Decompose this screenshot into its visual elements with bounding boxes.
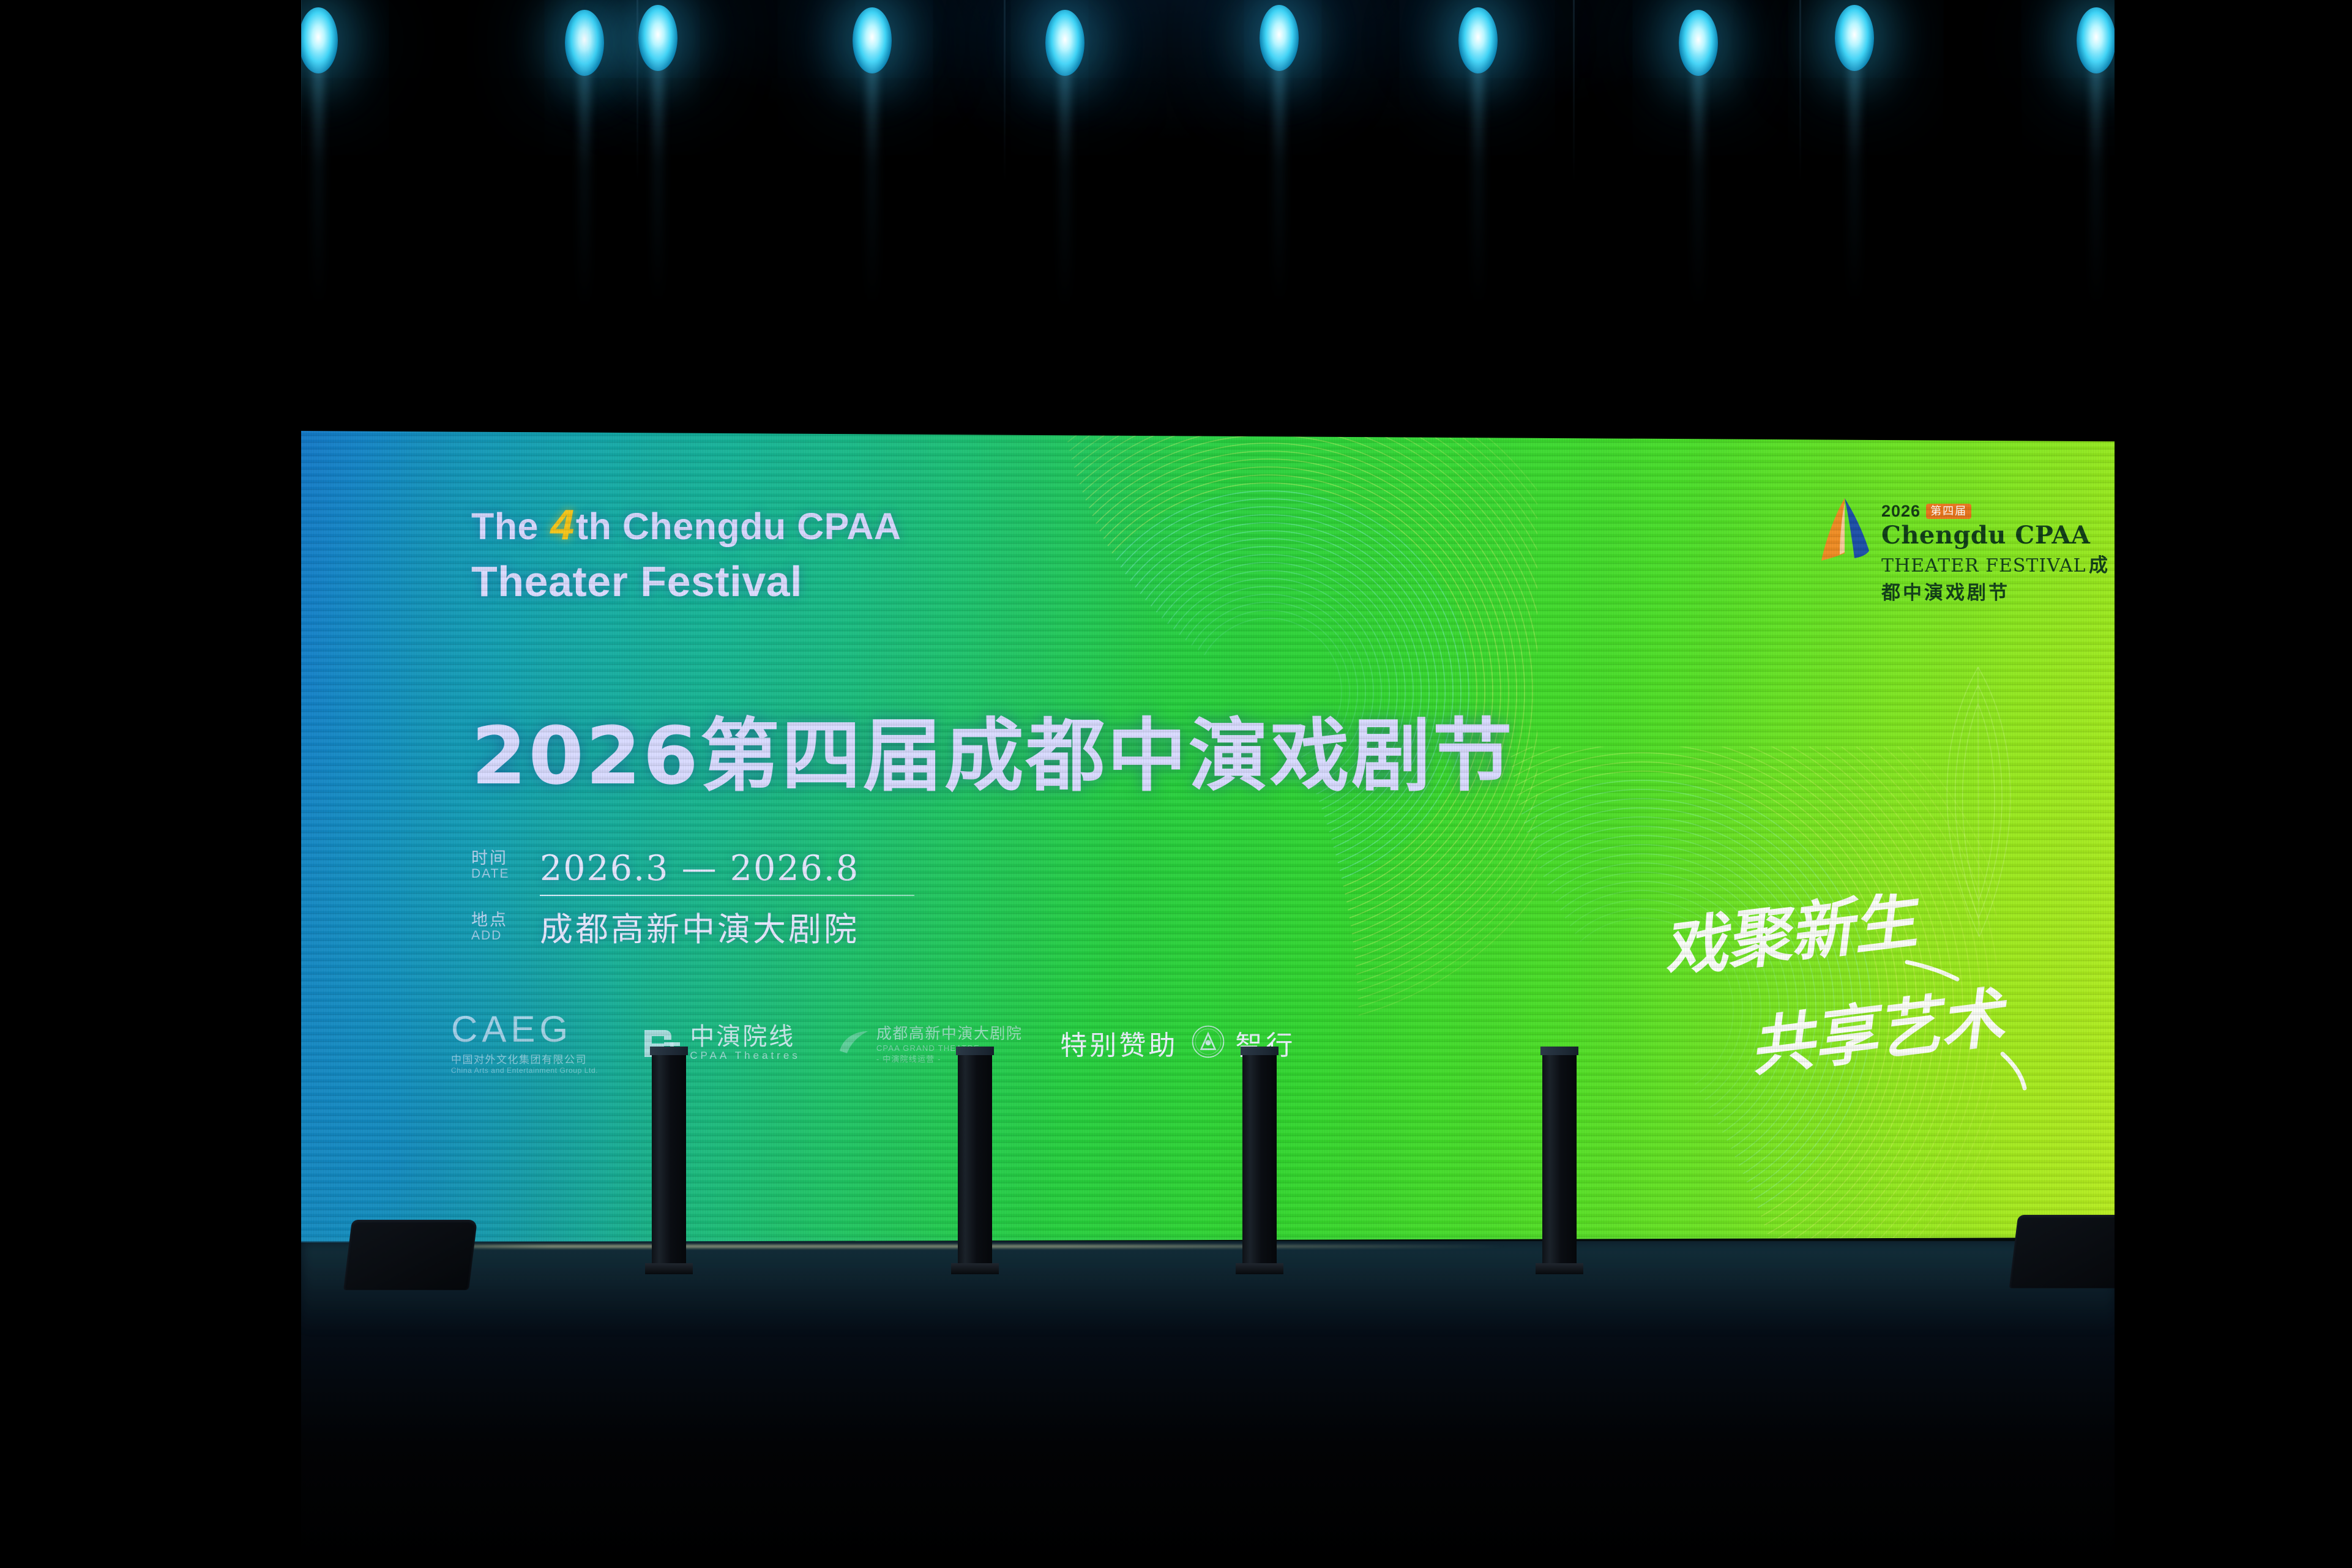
address-label-cn: 地点 bbox=[471, 911, 524, 928]
event-meta-block: 时间 DATE 2026.3 — 2026.8 地点 ADD 成都高新中演大剧院 bbox=[471, 848, 936, 950]
floor-reflection bbox=[301, 1241, 2115, 1333]
caeg-name-en: China Arts and Entertainment Group Ltd. bbox=[451, 1066, 598, 1075]
address-label-en: ADD bbox=[471, 928, 524, 943]
cpaa-theatres-cn: 中演院线 bbox=[690, 1024, 801, 1050]
festival-logo-edition-badge: 第四届 bbox=[1926, 504, 1971, 519]
spotlight-beam bbox=[1693, 53, 1704, 310]
stage-spotlight bbox=[1260, 5, 1299, 71]
lectern-base bbox=[1536, 1263, 1583, 1274]
stage-spotlight bbox=[565, 10, 604, 76]
meta-divider bbox=[540, 895, 914, 896]
date-label-en: DATE bbox=[471, 867, 524, 881]
grand-theatre-en: CPAA GRAND THEATRE bbox=[876, 1043, 1023, 1053]
special-sponsor-label: 特别赞助 bbox=[1060, 1023, 1178, 1062]
festival-logo: 2026 第四届 Chengdu CPAA THEATER FESTIVAL 成… bbox=[1818, 497, 2115, 605]
english-title-prefix: The bbox=[471, 506, 539, 547]
lectern-top bbox=[1540, 1047, 1578, 1055]
date-label: 时间 DATE bbox=[471, 849, 524, 889]
date-row: 时间 DATE 2026.3 — 2026.8 bbox=[471, 848, 936, 889]
stage-monitor-speaker-left bbox=[348, 1220, 473, 1290]
spotlight-beam bbox=[652, 48, 663, 305]
cpaa-theatres-en: CPAA Theatres bbox=[690, 1050, 801, 1062]
sponsor-logo-strip: CAEG 中国对外文化集团有限公司 China Arts and Enterta… bbox=[451, 1011, 1296, 1075]
lectern-post bbox=[1542, 1055, 1577, 1263]
festival-logo-brand-sub: THEATER FESTIVAL bbox=[1881, 555, 2086, 577]
english-title-line2: Theater Festival bbox=[471, 556, 901, 607]
truss-strut bbox=[1573, 0, 1575, 184]
left-stage-wing bbox=[0, 0, 301, 1568]
stage-spotlight bbox=[2077, 7, 2116, 73]
spotlight-beam bbox=[1059, 53, 1070, 310]
grand-theatre-sub: - 中演院线运营 - bbox=[876, 1053, 1023, 1064]
lectern-top bbox=[1241, 1047, 1279, 1055]
caeg-wordmark: CAEG bbox=[451, 1011, 598, 1048]
address-row: 地点 ADD 成都高新中演大剧院 bbox=[471, 902, 936, 950]
overhead-light-rig bbox=[0, 0, 2352, 233]
lectern-column bbox=[1542, 1047, 1583, 1274]
grand-theatre-icon bbox=[837, 1026, 870, 1060]
stage-spotlight bbox=[1835, 5, 1874, 71]
truss-strut bbox=[637, 0, 638, 184]
lectern-base bbox=[951, 1263, 999, 1274]
sponsor-caeg: CAEG 中国对外文化集团有限公司 China Arts and Enterta… bbox=[451, 1011, 598, 1075]
address-value: 成都高新中演大剧院 bbox=[540, 902, 859, 950]
lectern-column bbox=[652, 1047, 693, 1274]
ordinal-number-four: 4 bbox=[549, 501, 575, 548]
spotlight-beam bbox=[867, 50, 878, 307]
lectern-post bbox=[652, 1055, 686, 1263]
lectern-post bbox=[1242, 1055, 1277, 1263]
caeg-name-cn: 中国对外文化集团有限公司 bbox=[451, 1051, 598, 1066]
festival-logo-year-row: 2026 第四届 bbox=[1881, 502, 2115, 521]
floor-edge-lightline bbox=[343, 1245, 1506, 1248]
lectern-top bbox=[956, 1047, 994, 1055]
lectern-base bbox=[1236, 1263, 1283, 1274]
main-title-chinese: 2026第四届成都中演戏剧节 bbox=[471, 692, 1514, 807]
english-title-line1: The 4th Chengdu CPAA bbox=[471, 499, 901, 550]
lectern-top bbox=[650, 1047, 688, 1055]
lectern-column bbox=[1242, 1047, 1283, 1274]
spotlight-beam bbox=[313, 50, 324, 307]
spotlight-beam bbox=[2091, 50, 2102, 307]
date-label-cn: 时间 bbox=[471, 849, 524, 867]
spotlight-beam bbox=[579, 53, 590, 310]
stage-spotlight bbox=[299, 7, 338, 73]
festival-logo-textblock: 2026 第四届 Chengdu CPAA THEATER FESTIVAL 成… bbox=[1881, 497, 2115, 605]
festival-logo-year: 2026 bbox=[1881, 502, 1921, 521]
right-stage-wing bbox=[2115, 0, 2352, 1568]
lectern-column bbox=[958, 1047, 999, 1274]
english-title-line1-rest: Chengdu CPAA bbox=[622, 506, 902, 547]
stage-spotlight bbox=[638, 5, 678, 71]
stage-spotlight bbox=[1045, 10, 1085, 76]
stage-floor bbox=[0, 1241, 2352, 1568]
spotlight-beam bbox=[1473, 50, 1484, 307]
spotlight-beam bbox=[1849, 48, 1860, 305]
date-value: 2026.3 — 2026.8 bbox=[540, 848, 859, 889]
special-sponsor-cn: 特别赞助 bbox=[1060, 1023, 1178, 1062]
truss-strut bbox=[1004, 0, 1006, 184]
zhixing-seal-icon bbox=[1191, 1025, 1225, 1062]
truss-strut bbox=[1799, 0, 1801, 184]
spotlight-beam bbox=[1274, 48, 1285, 305]
lectern-base bbox=[645, 1263, 693, 1274]
stage-spotlight bbox=[1679, 10, 1718, 76]
led-video-wall: The 4th Chengdu CPAA Theater Festival 20… bbox=[301, 428, 2115, 1242]
theater-venue: The 4th Chengdu CPAA Theater Festival 20… bbox=[0, 0, 2352, 1568]
theater-tent-icon bbox=[1818, 497, 1870, 566]
grand-theatre-cn: 成都高新中演大剧院 bbox=[876, 1021, 1023, 1043]
address-label: 地点 ADD bbox=[471, 911, 524, 950]
stage-spotlight bbox=[853, 7, 892, 73]
english-title-block: The 4th Chengdu CPAA Theater Festival bbox=[471, 499, 901, 607]
ordinal-suffix: th bbox=[576, 506, 612, 547]
festival-logo-brand: Chengdu CPAA bbox=[1881, 521, 2090, 550]
lectern-post bbox=[958, 1055, 992, 1263]
stage-spotlight bbox=[1458, 7, 1498, 73]
